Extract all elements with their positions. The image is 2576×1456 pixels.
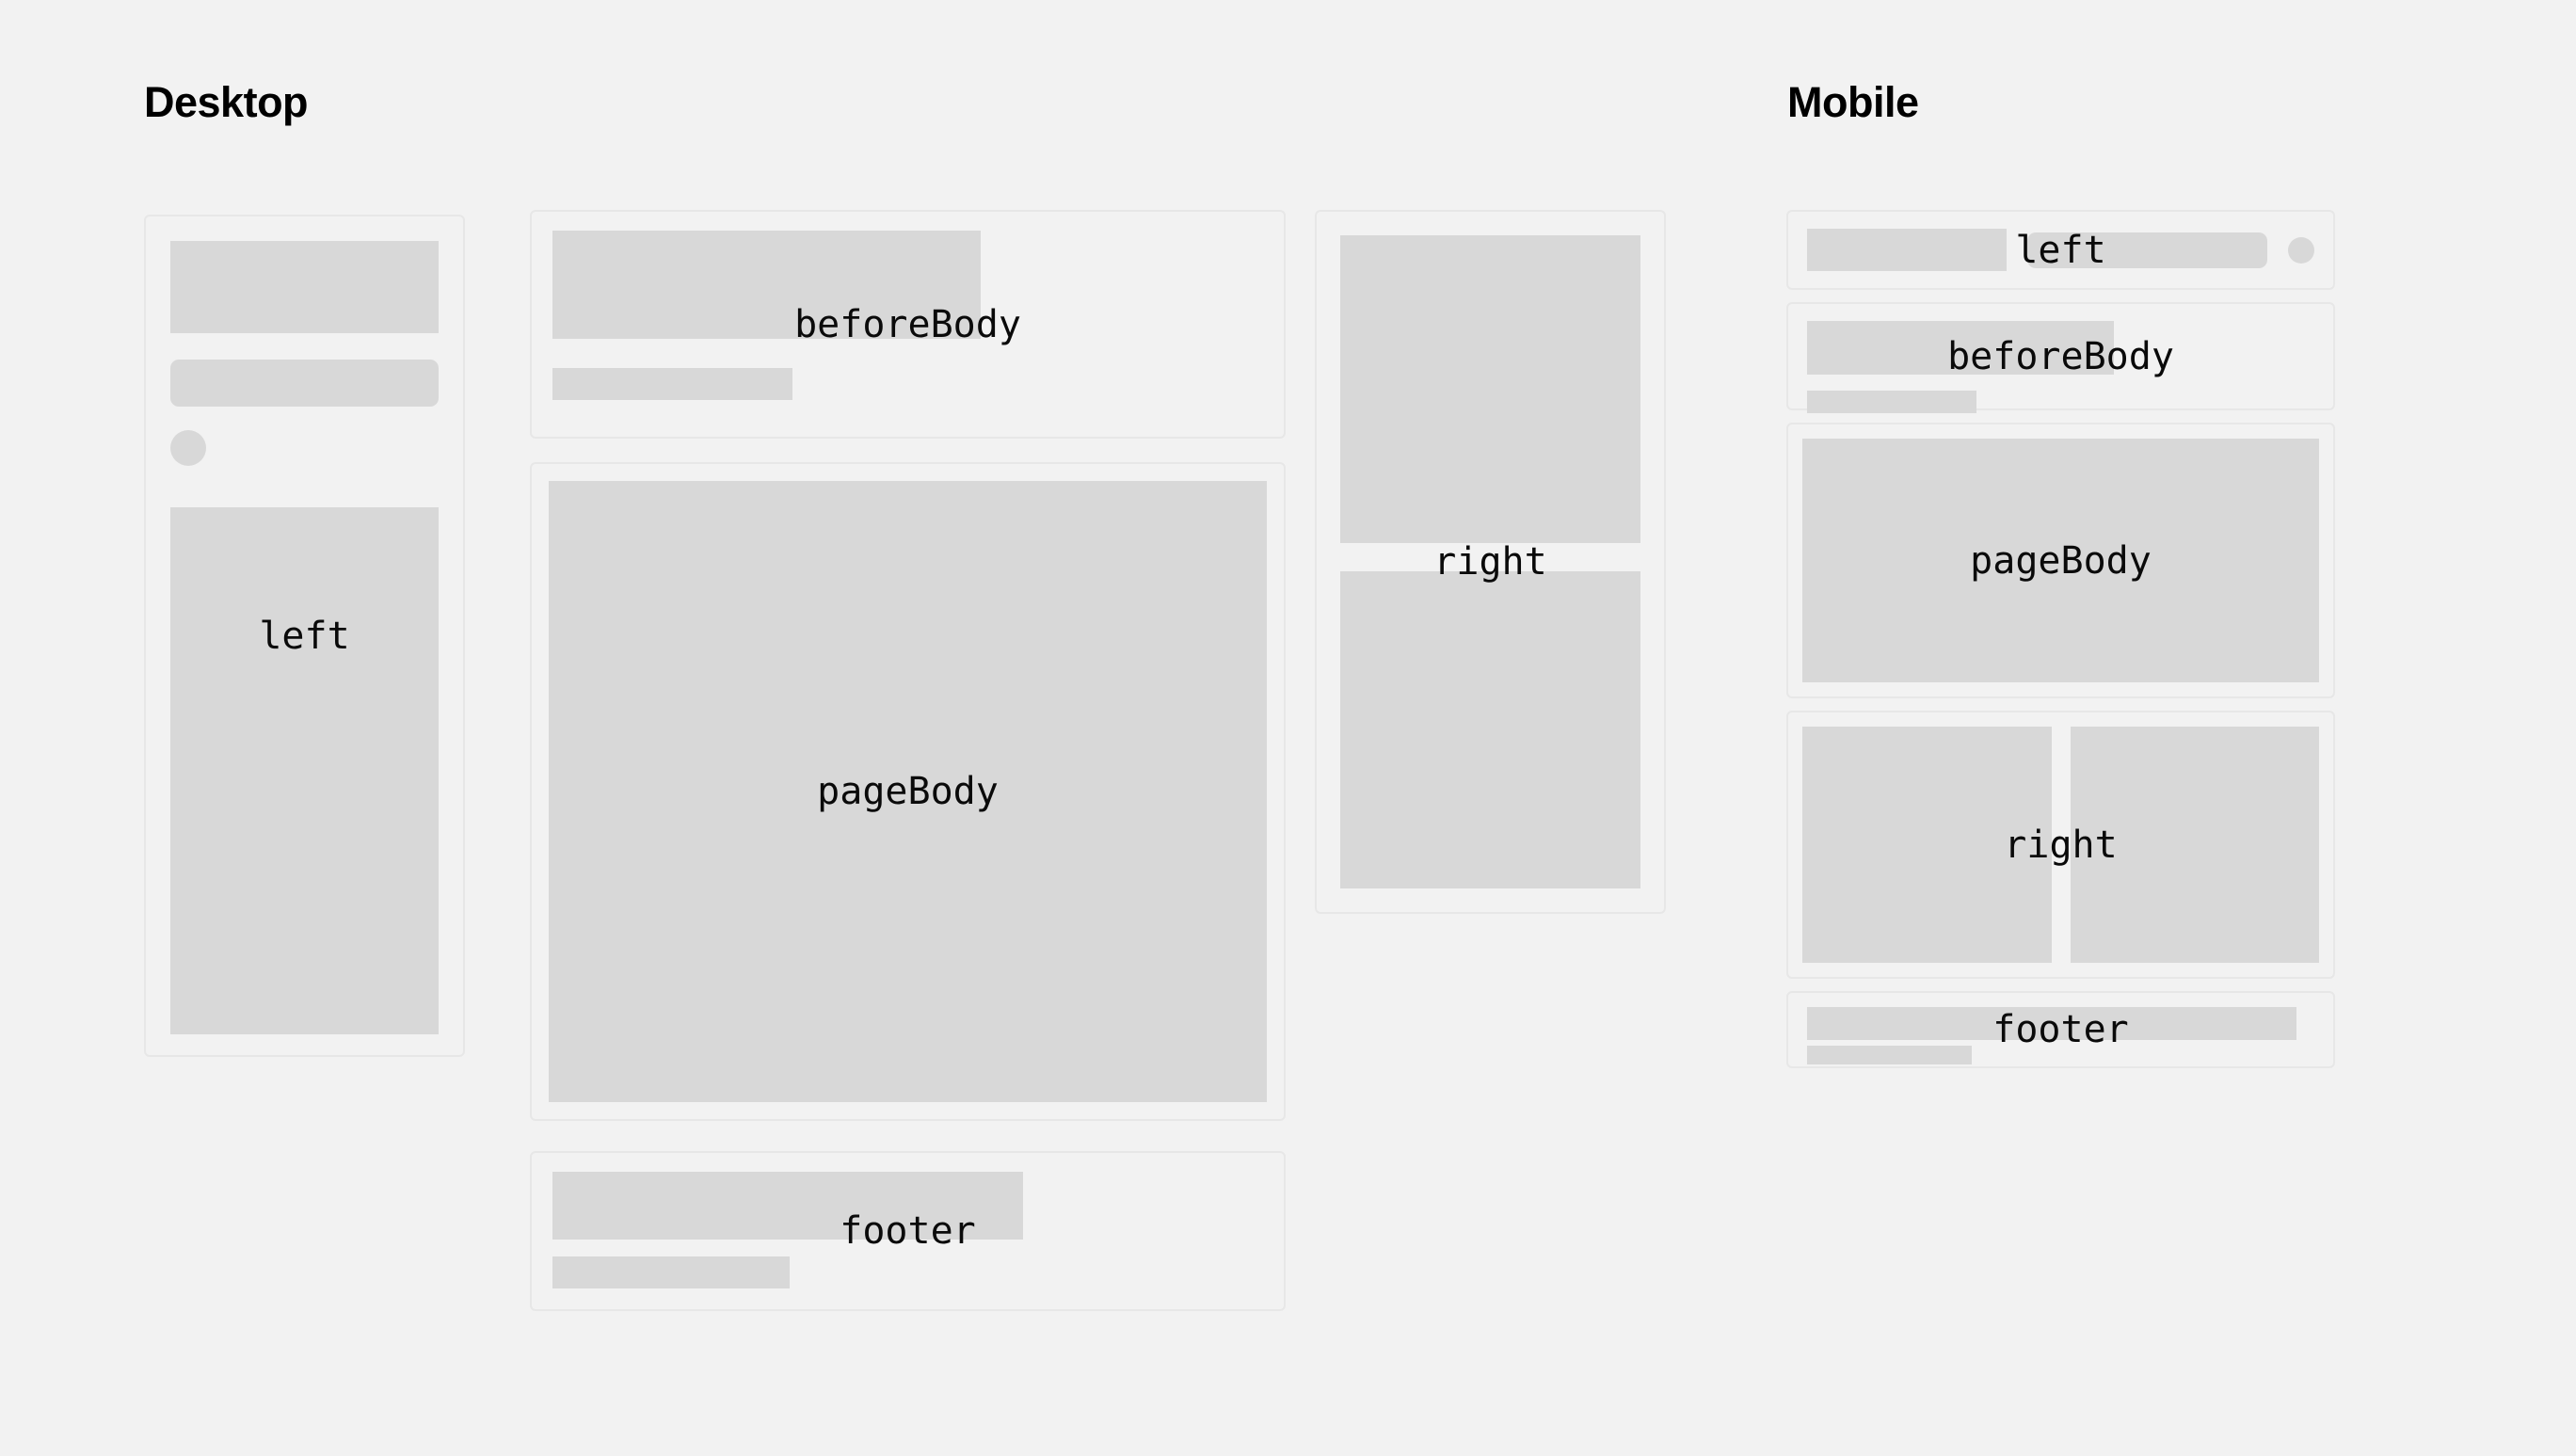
desktop-footer-slot[interactable]: footer	[530, 1151, 1286, 1311]
placeholder-block	[552, 1172, 1023, 1240]
placeholder-circle	[2288, 237, 2314, 264]
placeholder-pill	[170, 360, 439, 407]
mobile-right-row	[1802, 727, 2319, 963]
placeholder-block	[1807, 321, 2114, 375]
placeholder-block	[170, 507, 439, 1034]
placeholder-pill	[2027, 232, 2267, 268]
placeholder-block	[552, 1256, 790, 1288]
desktop-left-slot[interactable]: left	[144, 215, 465, 1057]
placeholder-block	[1802, 439, 2319, 682]
placeholder-block	[1807, 1007, 2296, 1040]
mobile-pagebody-slot[interactable]: pageBody	[1786, 423, 2335, 698]
placeholder-block	[1802, 727, 2052, 963]
placeholder-block	[1807, 229, 2007, 271]
mobile-section-title: Mobile	[1787, 78, 1919, 127]
mobile-right-slot[interactable]: right	[1786, 711, 2335, 979]
mobile-footer-slot[interactable]: footer	[1786, 991, 2335, 1068]
desktop-beforebody-slot[interactable]: beforeBody	[530, 210, 1286, 439]
placeholder-block	[1807, 391, 1976, 413]
mobile-column: left beforeBody pageBody right footer	[1786, 210, 2335, 1080]
placeholder-block	[552, 368, 792, 400]
placeholder-block	[1807, 1046, 1972, 1064]
desktop-center-column: beforeBody pageBody footer	[530, 210, 1286, 1311]
placeholder-block	[1340, 235, 1640, 543]
mobile-beforebody-slot[interactable]: beforeBody	[1786, 302, 2335, 410]
placeholder-block	[2071, 727, 2320, 963]
desktop-pagebody-slot[interactable]: pageBody	[530, 462, 1286, 1121]
placeholder-block	[1340, 571, 1640, 888]
mobile-left-slot[interactable]: left	[1786, 210, 2335, 290]
placeholder-block	[549, 481, 1267, 1102]
placeholder-block	[170, 241, 439, 333]
placeholder-circle	[170, 430, 206, 466]
layout-preview-stage: Desktop left beforeBody pageBody footer …	[0, 0, 2576, 1456]
desktop-right-slot[interactable]: right	[1315, 210, 1666, 914]
placeholder-block	[552, 231, 981, 339]
mobile-left-row	[1807, 229, 2314, 271]
desktop-section-title: Desktop	[144, 78, 308, 127]
